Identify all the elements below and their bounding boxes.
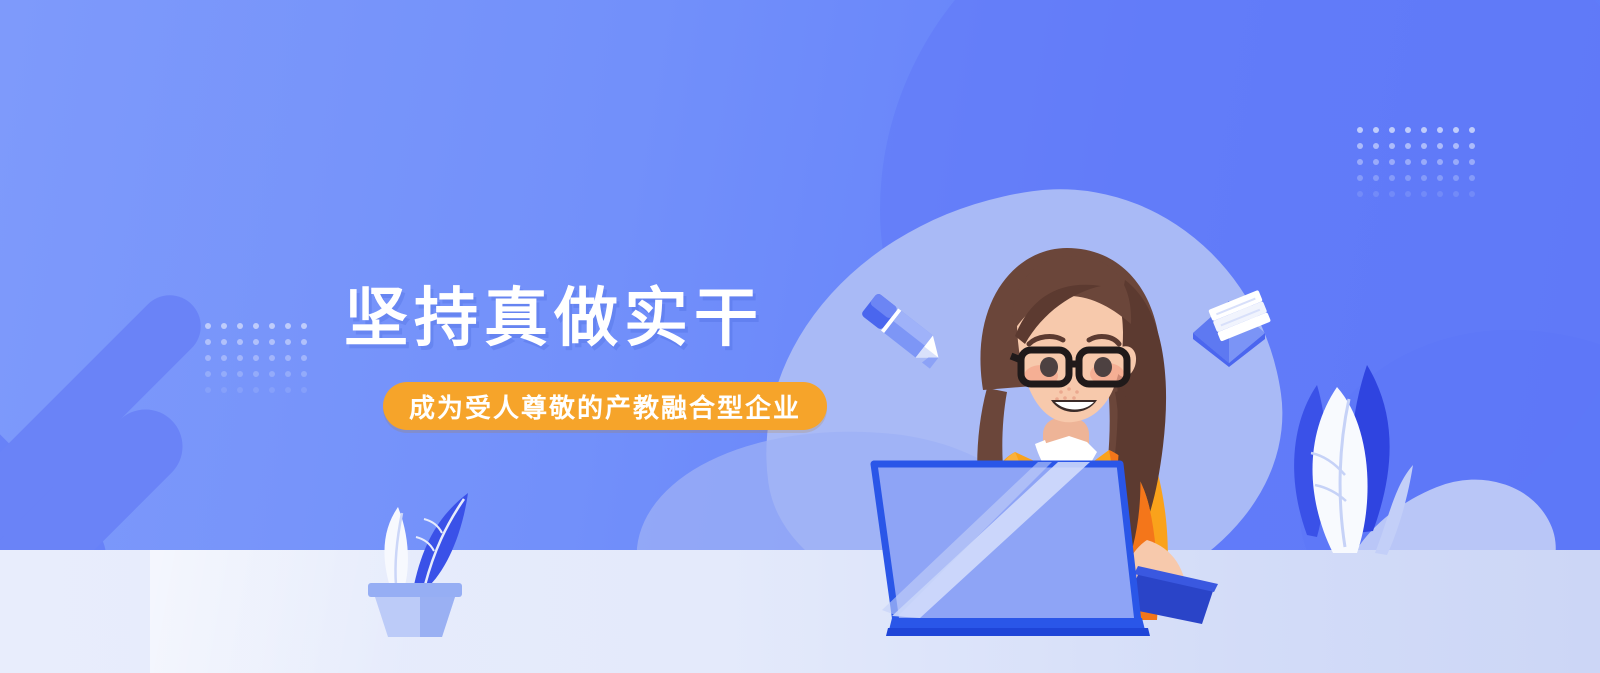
- dot-grid-dot: [205, 355, 211, 361]
- dot-grid-row: [200, 366, 312, 382]
- dot-grid-dot: [237, 371, 243, 377]
- dot-grid-dot: [1357, 143, 1363, 149]
- dot-grid-row: [1352, 154, 1480, 170]
- dot-grid-dot: [1469, 143, 1475, 149]
- dot-grid-dot: [1357, 127, 1363, 133]
- dot-grid-dot: [1421, 191, 1427, 197]
- dot-grid-dot: [1437, 143, 1443, 149]
- dot-grid-dot: [1453, 127, 1459, 133]
- dot-grid-dot: [1389, 159, 1395, 165]
- dot-grid-dot: [1357, 191, 1363, 197]
- dot-grid-dot: [301, 371, 307, 377]
- dot-grid-dot: [253, 339, 259, 345]
- dot-grid-dot: [1421, 143, 1427, 149]
- dot-grid-dot: [1389, 143, 1395, 149]
- dot-grid-row: [1352, 186, 1480, 202]
- dot-grid-dot: [253, 323, 259, 329]
- dot-grid-row: [200, 350, 312, 366]
- dot-grid-dot: [1405, 159, 1411, 165]
- dot-grid-dot: [1389, 175, 1395, 181]
- dot-grid-right-icon: [1352, 122, 1480, 202]
- dot-grid-dot: [1469, 159, 1475, 165]
- dot-grid-dot: [1453, 175, 1459, 181]
- dot-grid-left-icon: [200, 318, 312, 398]
- dot-grid-dot: [1421, 159, 1427, 165]
- dot-grid-dot: [237, 339, 243, 345]
- dot-grid-dot: [301, 323, 307, 329]
- dot-grid-dot: [1469, 175, 1475, 181]
- dot-grid-dot: [269, 323, 275, 329]
- dot-grid-dot: [1405, 191, 1411, 197]
- page-title: 坚持真做实干: [344, 286, 764, 350]
- dot-grid-dot: [285, 355, 291, 361]
- dot-grid-dot: [285, 339, 291, 345]
- dot-grid-dot: [285, 387, 291, 393]
- dot-grid-dot: [205, 387, 211, 393]
- subtitle-badge: 成为受人尊敬的产教融合型企业: [383, 382, 827, 430]
- dot-grid-dot: [1373, 127, 1379, 133]
- dot-grid-dot: [301, 355, 307, 361]
- dot-grid-dot: [1373, 143, 1379, 149]
- dot-grid-dot: [301, 339, 307, 345]
- dot-grid-dot: [1453, 191, 1459, 197]
- dot-grid-dot: [269, 355, 275, 361]
- dot-grid-dot: [1453, 159, 1459, 165]
- dot-grid-dot: [221, 355, 227, 361]
- dot-grid-dot: [221, 323, 227, 329]
- dot-grid-dot: [1357, 175, 1363, 181]
- dot-grid-dot: [269, 371, 275, 377]
- dot-grid-dot: [1421, 127, 1427, 133]
- dot-grid-dot: [1389, 127, 1395, 133]
- dot-grid-dot: [221, 371, 227, 377]
- dot-grid-dot: [1405, 143, 1411, 149]
- dot-grid-dot: [253, 387, 259, 393]
- dot-grid-dot: [1437, 127, 1443, 133]
- dot-grid-dot: [253, 371, 259, 377]
- leaf-cluster-icon: [1245, 325, 1420, 555]
- dot-grid-dot: [1469, 191, 1475, 197]
- dot-grid-dot: [205, 339, 211, 345]
- dot-grid-row: [1352, 122, 1480, 138]
- dot-grid-dot: [221, 339, 227, 345]
- dot-grid-dot: [221, 387, 227, 393]
- dot-grid-dot: [1373, 191, 1379, 197]
- dot-grid-dot: [269, 387, 275, 393]
- dot-grid-row: [1352, 138, 1480, 154]
- dot-grid-dot: [237, 387, 243, 393]
- dot-grid-dot: [1357, 159, 1363, 165]
- dot-grid-dot: [253, 355, 259, 361]
- dot-grid-dot: [301, 387, 307, 393]
- dot-grid-dot: [285, 371, 291, 377]
- laptop-icon: [862, 440, 1232, 640]
- dot-grid-dot: [237, 355, 243, 361]
- dot-grid-dot: [1437, 175, 1443, 181]
- dot-grid-dot: [1405, 127, 1411, 133]
- dot-grid-dot: [205, 323, 211, 329]
- dot-grid-dot: [205, 371, 211, 377]
- dot-grid-dot: [1373, 159, 1379, 165]
- dot-grid-row: [200, 318, 312, 334]
- dot-grid-dot: [237, 323, 243, 329]
- dot-grid-dot: [1469, 127, 1475, 133]
- dot-grid-dot: [1453, 143, 1459, 149]
- floor-surface: [0, 550, 1600, 673]
- dot-grid-dot: [285, 323, 291, 329]
- dot-grid-dot: [1373, 175, 1379, 181]
- hero-banner: 坚持真做实干 成为受人尊敬的产教融合型企业: [0, 0, 1600, 673]
- potted-plant-icon: [350, 455, 480, 640]
- dot-grid-dot: [1437, 191, 1443, 197]
- dot-grid-dot: [1405, 175, 1411, 181]
- dot-grid-dot: [1437, 159, 1443, 165]
- dot-grid-row: [1352, 170, 1480, 186]
- dot-grid-dot: [269, 339, 275, 345]
- dot-grid-row: [200, 334, 312, 350]
- dot-grid-row: [200, 382, 312, 398]
- dot-grid-dot: [1389, 191, 1395, 197]
- dot-grid-dot: [1421, 175, 1427, 181]
